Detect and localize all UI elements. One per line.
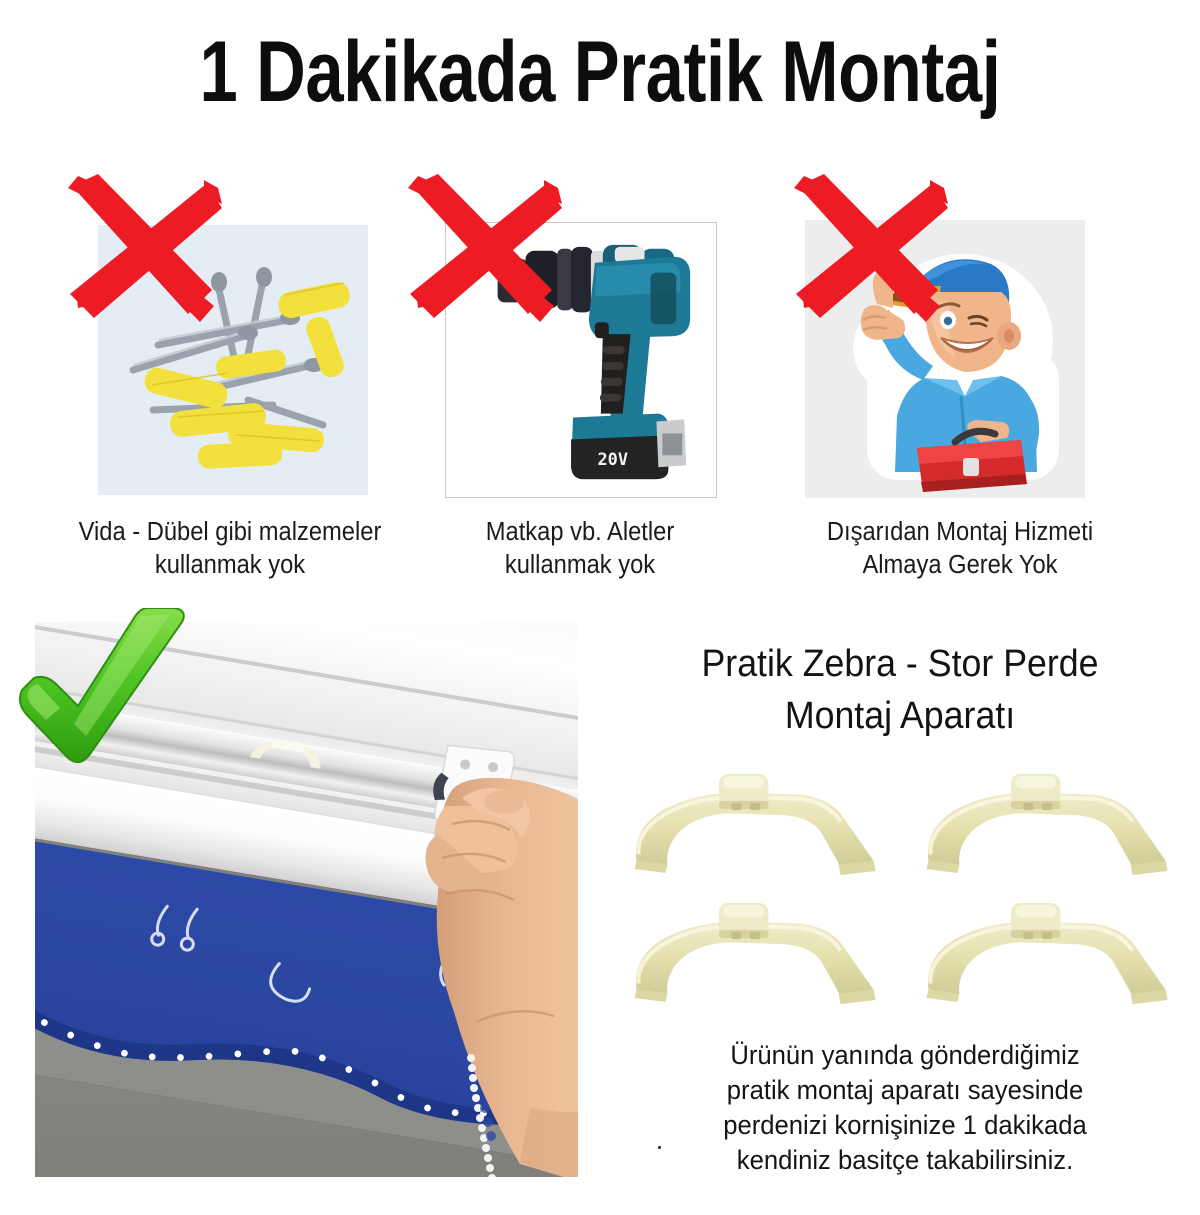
card-drill-caption: Matkap vb. Aletler kullanmak yok [413,516,748,582]
mounting-clip-3 [620,891,888,1012]
product-description: Ürünün yanında gönderdiğimiz pratik mont… [634,1038,1176,1178]
no-need-cards-row: Vida - Dübel gibi malzemeler kullanmak y… [0,168,1200,588]
stray-dot [658,1146,661,1149]
card-technician-caption: Dışarıdan Montaj Hizmeti Almaya Gerek Yo… [774,516,1146,582]
installation-photo [35,622,578,1177]
svg-text:20V: 20V [598,449,628,469]
screws-and-dowels-photo [98,225,368,495]
promo-page: 1 Dakikada Pratik Montaj [0,0,1200,1215]
card-screws-caption: Vida - Dübel gibi malzemeler kullanmak y… [44,516,416,582]
cordless-drill-photo: 20V [445,222,717,498]
page-title: 1 Dakikada Pratik Montaj [120,24,1080,120]
handyman-with-toolbox-illustration [805,220,1085,498]
mounting-clip-2 [912,762,1180,883]
mounting-clip-4 [912,891,1180,1012]
mounting-clip-1 [620,762,888,883]
product-heading: Pratik Zebra - Stor Perde Montaj Aparatı [618,638,1182,742]
mounting-clips-grid [620,762,1180,1012]
bead-chain [455,1052,505,1177]
